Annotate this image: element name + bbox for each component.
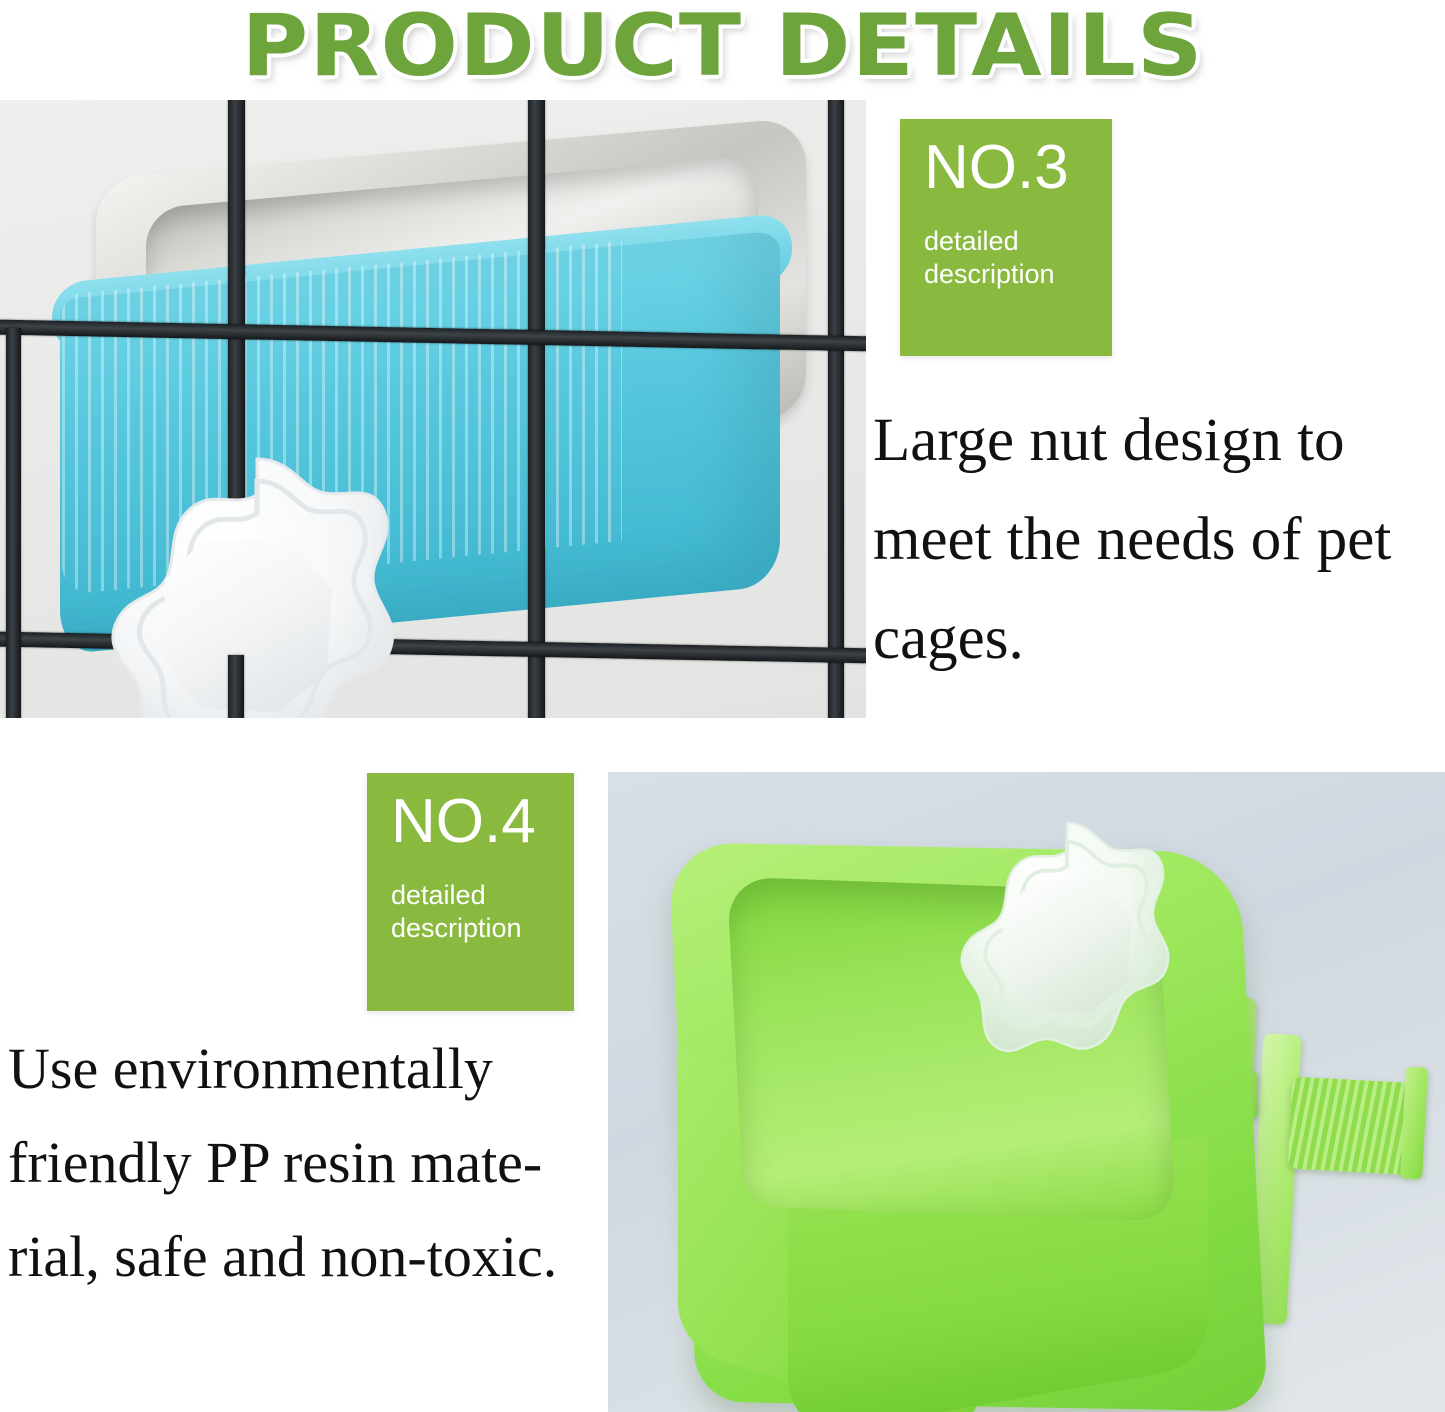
wing-nut-hex-center [162, 537, 332, 712]
page-title: PRODUCT DETAILS [0, 0, 1445, 96]
blue-bowl-on-cage-photo [0, 100, 866, 718]
bolt-flange [1400, 1067, 1428, 1180]
green-bowl-wing-nut-knob [960, 820, 1175, 1070]
description-no4: Use environmentally friendly PP resin ma… [8, 1022, 593, 1304]
badge-no4-subtitle-line2: description [391, 912, 574, 945]
wing-nut-hex-center [1000, 878, 1132, 1014]
cage-wire-vertical [528, 100, 545, 718]
badge-no4-subtitle: detailed description [391, 879, 574, 945]
badge-no3-subtitle-line1: detailed [924, 225, 1112, 258]
badge-no4-number: NO.4 [391, 787, 574, 857]
description-no4-line3: rial, safe and non-toxic. [8, 1210, 593, 1304]
badge-no4-subtitle-line1: detailed [391, 879, 574, 912]
badge-no3-number: NO.3 [924, 133, 1112, 203]
description-no4-line2: friendly PP resin mate- [8, 1116, 593, 1210]
badge-no3: NO.3 detailed description [900, 119, 1112, 356]
description-no4-line1: Use environmentally [8, 1022, 593, 1116]
badge-no3-subtitle-line2: description [924, 258, 1112, 291]
cage-wire-vertical [828, 100, 844, 718]
cage-wire-vertical-front [228, 655, 244, 718]
badge-no3-subtitle: detailed description [924, 225, 1112, 291]
description-no3: Large nut design to meet the needs of pe… [873, 392, 1443, 688]
badge-no4: NO.4 detailed description [367, 773, 574, 1011]
green-bowl-product-photo [608, 772, 1445, 1412]
cage-wire-vertical-left [6, 328, 21, 718]
white-wing-nut-knob [110, 455, 405, 718]
